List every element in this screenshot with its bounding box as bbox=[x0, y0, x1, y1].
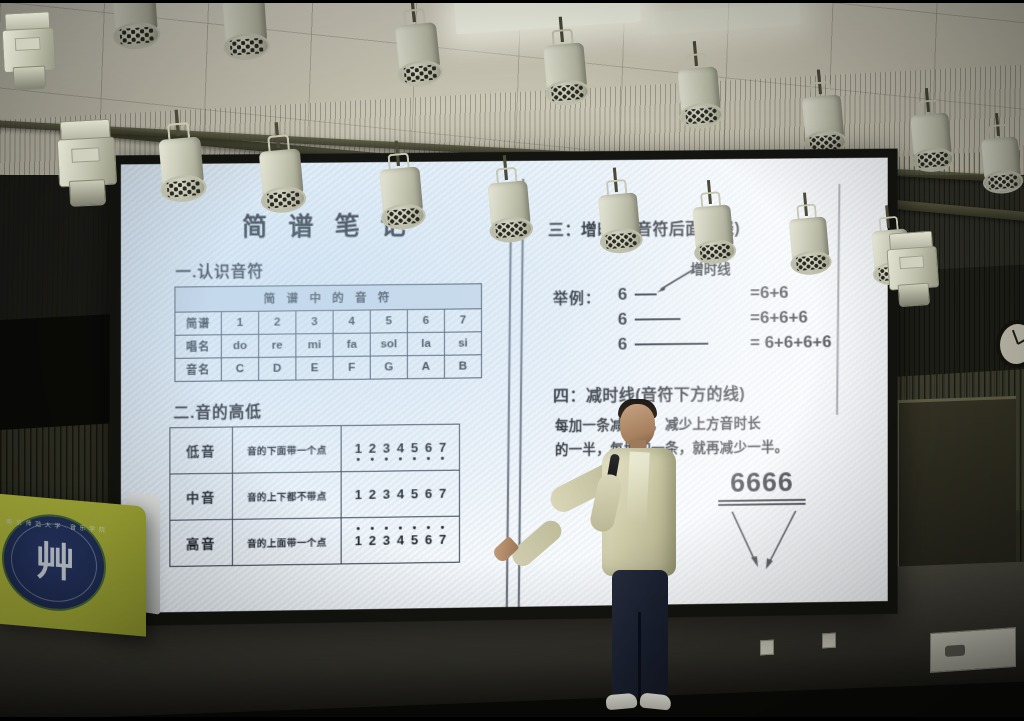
pitch-digits: 1 2 3 4 5 6 7 bbox=[341, 516, 459, 564]
digit: 1 bbox=[354, 533, 363, 548]
note-names-table: 简 谱 中 的 音 符 简谱 1 2 3 4 5 6 7 bbox=[174, 283, 482, 382]
moving-head-light-icon bbox=[885, 231, 940, 310]
pitch-register-table: 低音 音的下面带一个点 1 2 3 4 5 6 7 bbox=[169, 424, 460, 567]
row-label: 唱名 bbox=[175, 335, 221, 359]
par-light-icon bbox=[908, 110, 955, 171]
augmentation-row: 6 bbox=[618, 306, 709, 332]
digit-row: 1 2 3 4 5 6 7 bbox=[342, 486, 459, 503]
digit: 5 bbox=[410, 532, 419, 547]
table-row: 中音 音的上下都不带点 1 2 3 4 5 6 7 bbox=[170, 470, 460, 520]
digit: 4 bbox=[396, 532, 405, 547]
presenter-shoe-left bbox=[605, 693, 637, 711]
table-cell: F bbox=[333, 356, 370, 379]
equation: = 6+6+6+6 bbox=[750, 329, 832, 355]
par-light-icon bbox=[110, 0, 161, 48]
digit: 7 bbox=[438, 532, 447, 547]
row-label: 简谱 bbox=[175, 312, 221, 336]
augmentation-dash bbox=[635, 342, 709, 345]
table-row: 高音 音的上面带一个点 1 2 3 4 5 6 7 bbox=[170, 516, 460, 566]
table-cell: 7 bbox=[444, 309, 481, 332]
pitch-description: 音的上下都不带点 bbox=[232, 472, 341, 520]
digit: 6 bbox=[424, 486, 433, 501]
diminution-demo: 6666 bbox=[718, 467, 805, 506]
presenter-jacket-lapel bbox=[626, 452, 650, 523]
table-cell: do bbox=[221, 334, 258, 358]
par-light-icon bbox=[485, 178, 534, 242]
note-digit: 6 bbox=[618, 332, 633, 357]
digit: 3 bbox=[382, 533, 391, 548]
pitch-description: 音的下面带一个点 bbox=[232, 426, 341, 474]
par-light-icon bbox=[786, 214, 832, 274]
lectern-podium: 南 京 师 范 大 学 · 音 乐 学 院 艸 bbox=[0, 493, 146, 636]
table-cell: re bbox=[259, 334, 296, 358]
pitch-name: 高音 bbox=[170, 519, 233, 566]
digit: 1 bbox=[354, 441, 363, 456]
digit: 6 bbox=[424, 532, 433, 547]
frame-bottom-border bbox=[0, 717, 1024, 721]
digit: 5 bbox=[410, 440, 419, 455]
lecture-hall-photo: 简 谱 笔 记 一.认识音符 简 谱 中 的 音 符 简谱 1 2 3 4 5 bbox=[0, 0, 1024, 721]
frame-top-border bbox=[0, 0, 1024, 3]
presenter bbox=[578, 396, 708, 721]
augmentation-row: 6 bbox=[618, 331, 709, 357]
par-light-icon bbox=[541, 40, 591, 105]
digit: 4 bbox=[396, 486, 405, 501]
table-cell: 4 bbox=[333, 310, 370, 333]
digit: 6 bbox=[424, 440, 433, 455]
light-lens bbox=[69, 179, 106, 207]
table-cell: E bbox=[296, 357, 333, 381]
table-cell: C bbox=[221, 357, 258, 381]
augmentation-rows: 6 6 6 bbox=[618, 281, 709, 357]
wall-outlet-2 bbox=[822, 633, 836, 649]
pitch-name: 低音 bbox=[170, 427, 233, 474]
table-cell: sol bbox=[370, 333, 407, 356]
augmentation-row: 6 bbox=[618, 281, 709, 307]
demo-digits: 6666 bbox=[718, 467, 805, 498]
par-light-icon bbox=[596, 190, 644, 253]
table-cell: 1 bbox=[221, 311, 258, 335]
digit: 4 bbox=[396, 440, 405, 455]
light-label-plate bbox=[15, 37, 41, 51]
augmentation-dash bbox=[635, 318, 681, 321]
digit: 2 bbox=[368, 487, 377, 502]
light-label-plate bbox=[71, 147, 100, 162]
par-light-icon bbox=[690, 202, 737, 263]
par-light-icon bbox=[256, 146, 307, 212]
digit: 2 bbox=[368, 533, 377, 548]
table-cell: G bbox=[370, 356, 407, 379]
augmentation-equations: =6+6 =6+6+6 = 6+6+6+6 bbox=[750, 280, 832, 356]
table-cell: 2 bbox=[259, 311, 296, 334]
par-light-icon bbox=[979, 134, 1024, 193]
floor-riser-box bbox=[930, 627, 1016, 673]
par-light-icon bbox=[377, 164, 427, 229]
section-heading-two: 二.音的高低 bbox=[173, 400, 262, 423]
table-cell: 6 bbox=[407, 309, 444, 332]
diminution-arrows-icon bbox=[702, 505, 821, 578]
presenter-trousers bbox=[612, 570, 668, 698]
digit-row: 1 2 3 4 5 6 7 bbox=[342, 440, 459, 457]
pitch-description: 音的上面带一个点 bbox=[232, 518, 341, 566]
digit: 1 bbox=[354, 487, 363, 502]
light-label-plate bbox=[899, 255, 924, 269]
row-label: 音名 bbox=[175, 358, 221, 382]
emblem-arc-text: 南 京 师 范 大 学 · 音 乐 学 院 bbox=[4, 516, 108, 534]
equation: =6+6+6 bbox=[750, 304, 832, 330]
digit-row: 1 2 3 4 5 6 7 bbox=[342, 532, 459, 549]
digit: 3 bbox=[382, 440, 391, 455]
table-cell: 5 bbox=[370, 310, 407, 333]
table-row: 低音 音的下面带一个点 1 2 3 4 5 6 7 bbox=[170, 424, 460, 474]
note-digit: 6 bbox=[618, 282, 633, 307]
wall-outlet-1 bbox=[760, 640, 774, 656]
pitch-digits: 1 2 3 4 5 6 7 bbox=[341, 424, 459, 472]
table-cell: A bbox=[407, 355, 444, 378]
table-cell: B bbox=[444, 355, 481, 378]
moving-head-light-icon bbox=[56, 119, 119, 210]
table-row: 音名 C D E F G A B bbox=[175, 355, 482, 382]
augmentation-dash bbox=[635, 293, 657, 295]
school-emblem: 南 京 师 范 大 学 · 音 乐 学 院 艸 bbox=[2, 510, 106, 615]
light-lens bbox=[898, 283, 930, 307]
example-label: 举例： bbox=[553, 287, 601, 309]
pitch-name: 中音 bbox=[170, 473, 233, 520]
section-heading-one: 一.认识音符 bbox=[175, 259, 264, 282]
table-cell: la bbox=[407, 332, 444, 355]
par-light-icon bbox=[156, 134, 208, 202]
note-digit: 6 bbox=[618, 307, 633, 332]
pitch-digits: 1 2 3 4 5 6 7 bbox=[341, 470, 459, 518]
digit: 7 bbox=[438, 486, 447, 501]
table-cell: fa bbox=[333, 333, 370, 356]
digit: 2 bbox=[368, 441, 377, 456]
moving-head-light-icon bbox=[1, 11, 57, 93]
note-table-caption: 简 谱 中 的 音 符 bbox=[175, 284, 482, 312]
table-cell: si bbox=[444, 332, 481, 355]
digit: 7 bbox=[438, 440, 447, 455]
equation: =6+6 bbox=[750, 280, 832, 306]
table-cell: mi bbox=[296, 333, 333, 356]
par-light-icon bbox=[800, 92, 848, 155]
table-cell: D bbox=[259, 357, 296, 381]
par-light-icon bbox=[675, 64, 724, 128]
presenter-shoe-right bbox=[639, 692, 671, 710]
clock-minute-hand bbox=[1012, 330, 1019, 345]
light-lens bbox=[13, 66, 47, 91]
slide-divider-line-3 bbox=[836, 184, 840, 415]
digit: 5 bbox=[410, 486, 419, 501]
digit: 3 bbox=[382, 487, 391, 502]
table-cell: 3 bbox=[296, 310, 333, 333]
emblem-glyph: 艸 bbox=[35, 541, 73, 584]
par-light-icon bbox=[220, 0, 271, 59]
par-light-icon bbox=[392, 20, 444, 87]
diminution-line-first bbox=[718, 499, 805, 502]
